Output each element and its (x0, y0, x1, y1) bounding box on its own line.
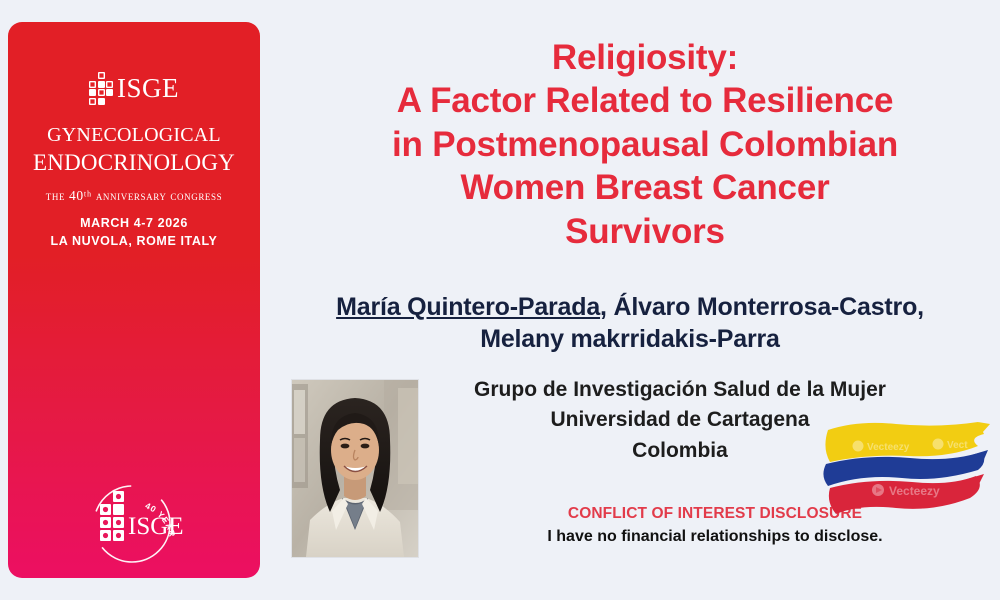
presenting-author: María Quintero-Parada (336, 293, 600, 321)
title-line-5: Survivors (300, 210, 990, 253)
congress-banner: ISGE GYNECOLOGICAL ENDOCRINOLOGY THE 40ᵗ… (8, 22, 260, 578)
title-line-4: Women Breast Cancer (300, 166, 990, 209)
title-line-1: Religiosity: (300, 36, 990, 79)
title-line-2: A Factor Related to Resilience (300, 79, 990, 122)
svg-text:Vecteezy: Vecteezy (867, 442, 910, 453)
presenter-portrait-photo (292, 380, 418, 557)
isge-logo-text: ISGE (117, 75, 179, 102)
congress-venue: LA NUVOLA, ROME ITALY (8, 232, 260, 250)
title-line-3: in Postmenopausal Colombian (300, 123, 990, 166)
congress-date-venue: MARCH 4-7 2026 LA NUVOLA, ROME ITALY (8, 214, 260, 250)
affiliation-line-1: Grupo de Investigación Salud de la Mujer (420, 375, 940, 405)
svg-text:Vecteezy: Vecteezy (889, 484, 940, 498)
congress-subtitle: THE 40ᵗʰ ANNIVERSARY CONGRESS (8, 188, 260, 204)
coi-statement: I have no financial relationships to dis… (500, 525, 930, 548)
slide-title: Religiosity: A Factor Related to Resilie… (300, 36, 990, 253)
author-list: María Quintero-Parada, Álvaro Monterrosa… (272, 291, 988, 355)
colombia-flag-brushstroke: Vecteezy Vecteezy Vect (818, 416, 990, 524)
presentation-slide: ISGE GYNECOLOGICAL ENDOCRINOLOGY THE 40ᵗ… (0, 0, 1000, 600)
coauthors-inline: , Álvaro Monterrosa-Castro, (600, 293, 924, 321)
congress-title-line-2: ENDOCRINOLOGY (8, 144, 260, 176)
author-line-2: Melany makrridakis-Parra (272, 323, 988, 355)
isge-grid-squares-icon (89, 72, 113, 105)
isge-40-years-badge: ISGE 40 YEARS (70, 474, 195, 572)
author-line-1: María Quintero-Parada, Álvaro Monterrosa… (272, 291, 988, 323)
congress-dates: MARCH 4-7 2026 (8, 214, 260, 232)
svg-text:Vect: Vect (947, 440, 968, 451)
congress-title: GYNECOLOGICAL ENDOCRINOLOGY (8, 118, 260, 177)
isge-logo: ISGE (8, 72, 260, 105)
